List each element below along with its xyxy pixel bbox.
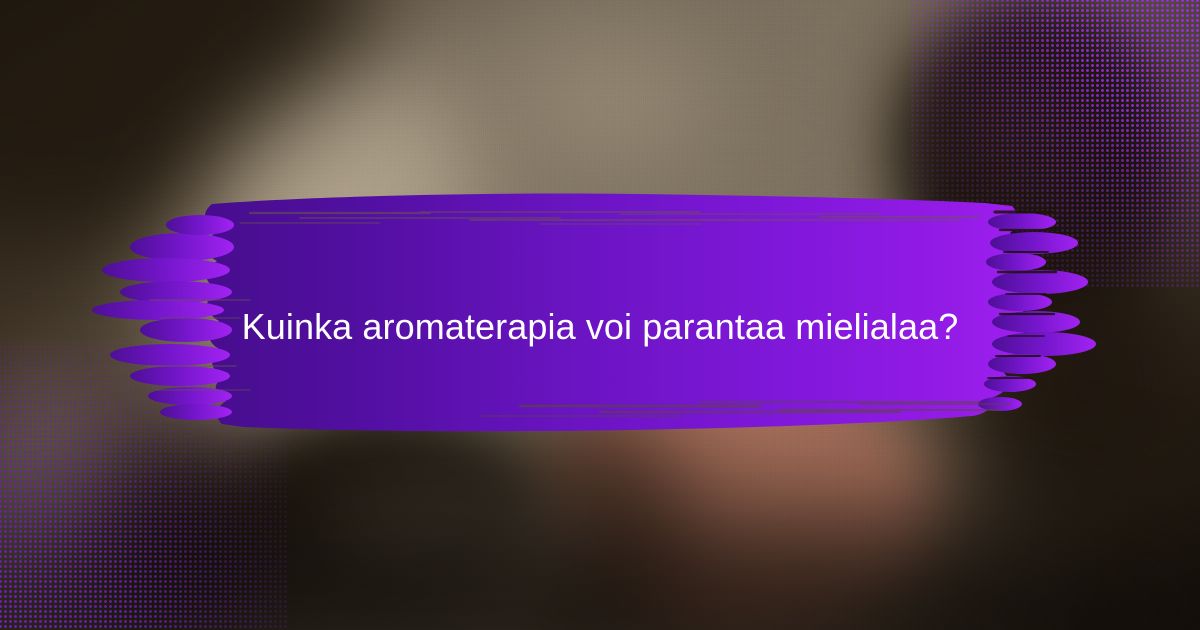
page-title: Kuinka aromaterapia voi parantaa mielial… <box>242 305 959 349</box>
headline-container: Kuinka aromaterapia voi parantaa mielial… <box>0 0 1200 630</box>
social-share-card: Kuinka aromaterapia voi parantaa mielial… <box>0 0 1200 630</box>
headline-inner: Kuinka aromaterapia voi parantaa mielial… <box>242 305 959 349</box>
